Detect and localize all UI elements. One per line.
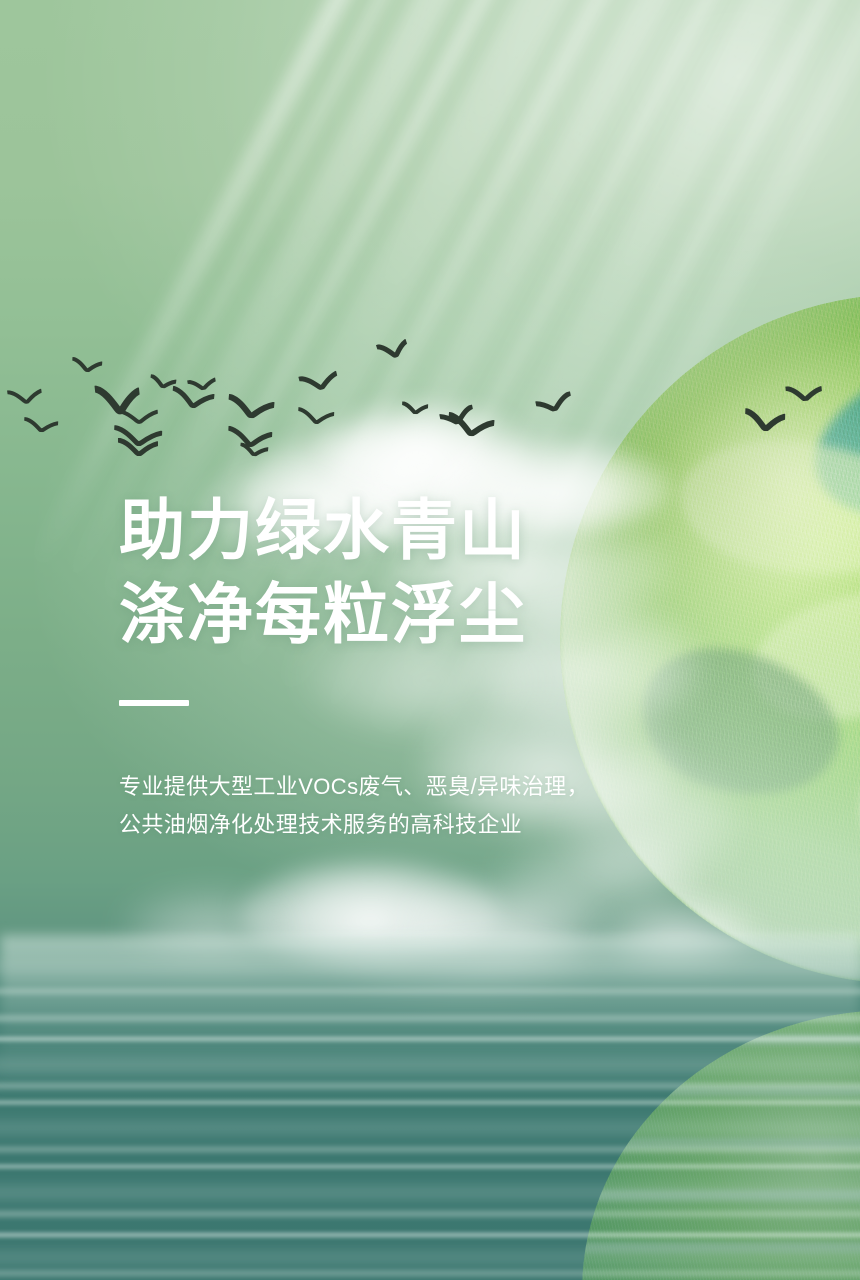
bird-icon-0: [7, 386, 43, 407]
subtitle-line-1: 专业提供大型工业VOCs废气、恶臭/异味治理，: [119, 706, 679, 806]
headline-line-2: 涤净每粒浮尘: [119, 572, 679, 656]
bird-icon-21: [239, 443, 268, 458]
bird-icon-1: [72, 357, 103, 373]
marketing-hero-poster: 助力绿水青山 涤净每粒浮尘 专业提供大型工业VOCs废气、恶臭/异味治理， 公共…: [0, 0, 860, 1280]
bird-icon-13: [298, 407, 335, 425]
subtitle-line-2: 公共油烟净化处理技术服务的高科技企业: [119, 806, 679, 844]
bird-icon-8: [118, 438, 158, 456]
bird-icon-19: [745, 408, 786, 431]
bird-icon-15: [402, 402, 428, 415]
bird-icon-20: [785, 383, 822, 402]
bird-icon-14: [376, 336, 410, 362]
bird-icon-12: [298, 368, 339, 395]
hero-text-block: 助力绿水青山 涤净每粒浮尘 专业提供大型工业VOCs废气、恶臭/异味治理， 公共…: [119, 488, 679, 844]
bird-icon-18: [535, 391, 574, 414]
water-horizon-haze: [0, 935, 860, 1095]
bird-icon-5: [117, 407, 158, 426]
bird-icon-7: [227, 394, 275, 420]
bird-icon-10: [149, 374, 176, 390]
bird-icon-17: [447, 412, 495, 438]
headline-line-1: 助力绿水青山: [119, 488, 679, 572]
bird-icon-4: [24, 417, 59, 433]
